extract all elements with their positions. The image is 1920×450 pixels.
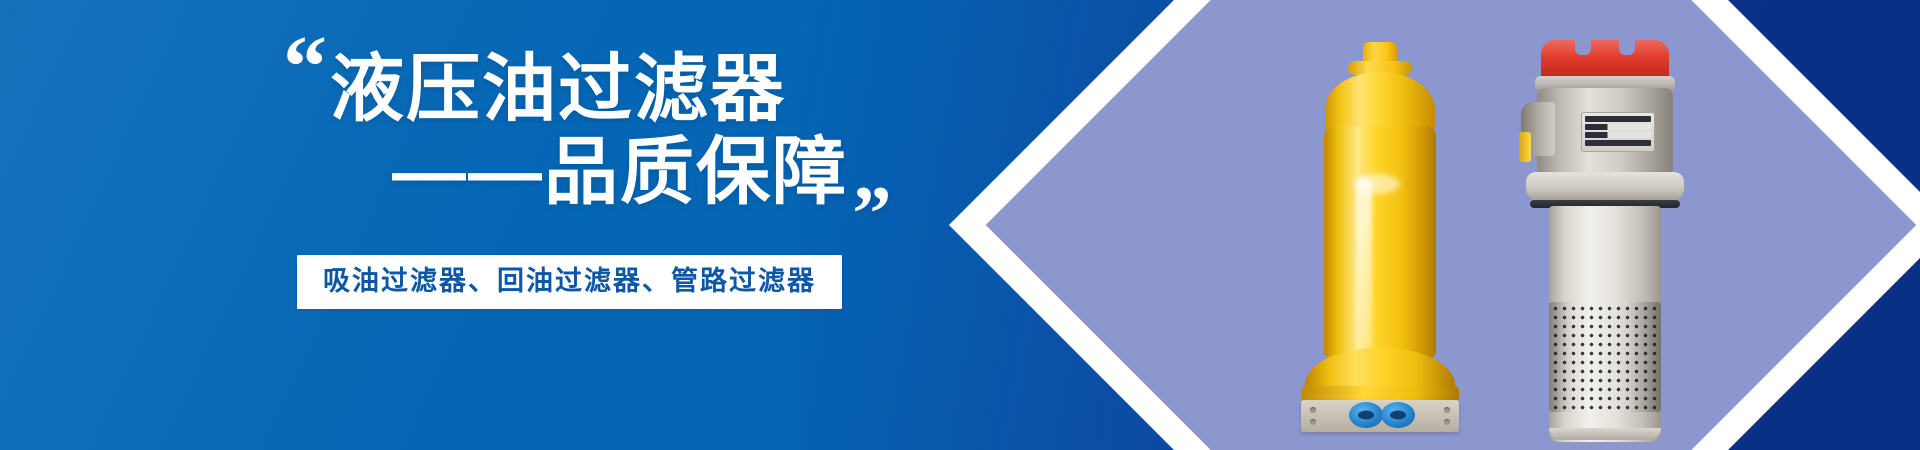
base-plate-screw	[1310, 407, 1316, 413]
product-images	[1060, 0, 1920, 450]
grey-filter-side-port	[1521, 102, 1555, 156]
headline-line-2-wrap: ——品质保障 „	[330, 131, 890, 214]
nameplate-row	[1585, 116, 1651, 122]
yellow-filter-base-plate	[1301, 400, 1459, 432]
grey-filter-bottom-ring	[1549, 428, 1661, 440]
headline-line-2: ——品质保障	[392, 130, 848, 213]
grey-filter-head	[1537, 88, 1673, 176]
blue-port-cap	[1349, 402, 1383, 428]
yellow-filter-flare	[1354, 174, 1400, 194]
base-plate-screw	[1444, 407, 1450, 413]
subtitle-text: 吸油过滤器、回油过滤器、管路过滤器	[323, 268, 816, 295]
yellow-filter-shoulder	[1325, 72, 1435, 134]
nameplate-row	[1585, 132, 1651, 138]
headline-line-1: 液压油过滤器	[330, 48, 890, 131]
nameplate-row	[1585, 124, 1651, 130]
red-cap-notch	[1575, 40, 1591, 55]
subtitle-box: 吸油过滤器、回油过滤器、管路过滤器	[297, 255, 842, 309]
base-plate-screw	[1444, 419, 1450, 425]
blue-port-cap	[1381, 402, 1415, 428]
yellow-filter-image	[1300, 42, 1460, 432]
grey-filter-mesh-shading	[1549, 302, 1661, 412]
grey-filter-nameplate	[1581, 112, 1655, 152]
banner-copy: “ 液压油过滤器 ——品质保障 „ 吸油过滤器、回油过滤器、管路过滤器	[0, 0, 920, 450]
base-plate-screw	[1310, 419, 1316, 425]
nameplate-row	[1585, 140, 1651, 146]
headline: 液压油过滤器 ——品质保障 „	[330, 48, 890, 214]
grey-filter-tube	[1549, 206, 1661, 442]
grey-filter-flange	[1526, 172, 1684, 202]
closing-quote-mark: „	[853, 134, 894, 212]
side-port-yellow-plug	[1519, 132, 1531, 162]
promo-banner: “ 液压油过滤器 ——品质保障 „ 吸油过滤器、回油过滤器、管路过滤器	[0, 0, 1920, 450]
yellow-filter-body	[1324, 126, 1436, 358]
opening-quote-mark: “	[283, 24, 325, 112]
grey-filter-image	[1510, 30, 1700, 450]
red-cap-notch	[1619, 40, 1635, 55]
